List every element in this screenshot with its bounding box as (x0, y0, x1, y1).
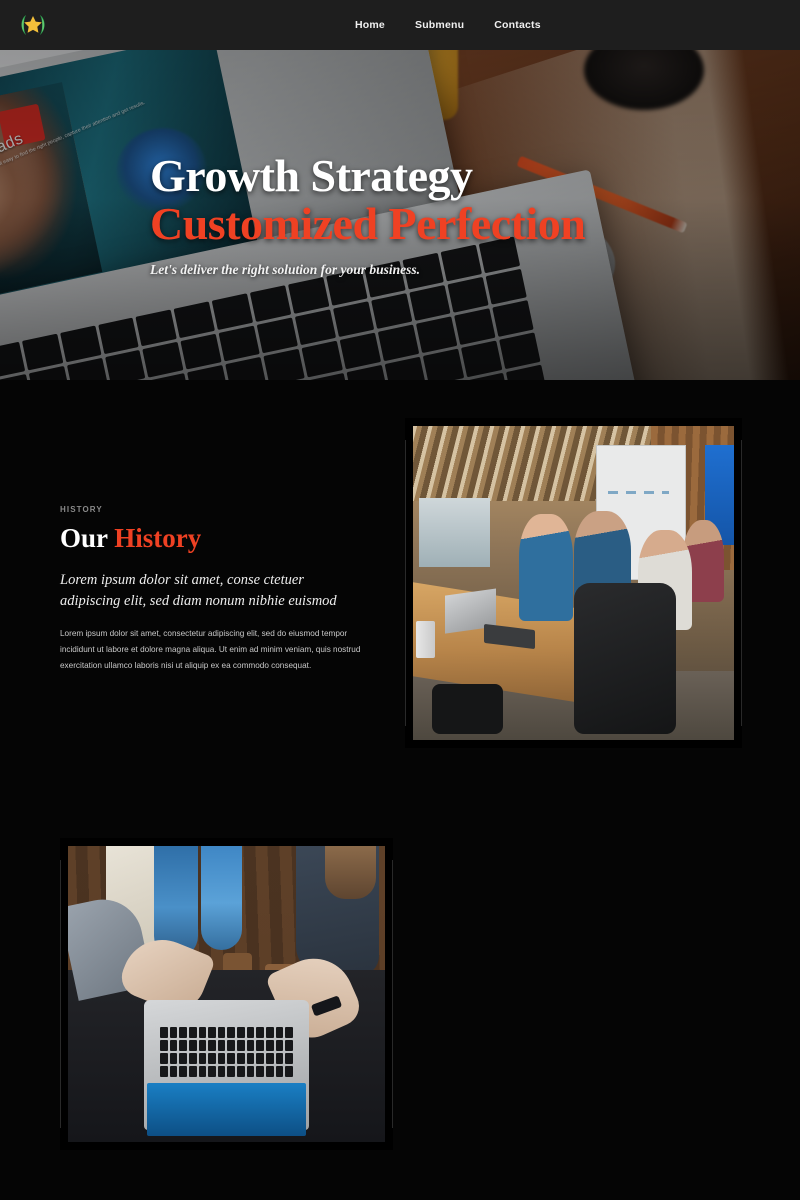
office-team-meeting-photo (413, 426, 734, 740)
history-eyebrow: HISTORY (60, 505, 365, 514)
top-navigation-bar: Home Submenu Contacts (0, 0, 800, 50)
nav-item-submenu[interactable]: Submenu (415, 19, 464, 31)
history-heading-plain: Our (60, 523, 114, 553)
hero-section: Facebook ads Advertising on Facebook mak… (0, 50, 800, 380)
hero-title-line1: Growth Strategy (150, 152, 800, 200)
nav-links: Home Submenu Contacts (355, 0, 541, 50)
offer-section: OFFER The Main Functions We Offer Lorem … (0, 830, 800, 1200)
laurel-star-logo[interactable] (14, 6, 52, 44)
history-image-frame (405, 418, 742, 748)
history-body: Lorem ipsum dolor sit amet, consectetur … (60, 626, 365, 674)
landing-page: Home Submenu Contacts (0, 0, 800, 1200)
history-heading-accent: History (114, 523, 201, 553)
hero-title-line2: Customized Perfection (150, 200, 800, 248)
history-heading: Our History (60, 523, 365, 555)
nav-item-contacts[interactable]: Contacts (494, 19, 541, 31)
nav-item-home[interactable]: Home (355, 19, 385, 31)
hero-copy: Growth Strategy Customized Perfection Le… (0, 50, 800, 380)
history-text-block: HISTORY Our History Lorem ipsum dolor si… (60, 505, 365, 674)
hero-subtitle: Let's deliver the right solution for you… (150, 262, 800, 278)
history-lead: Lorem ipsum dolor sit amet, conse ctetue… (60, 570, 365, 612)
